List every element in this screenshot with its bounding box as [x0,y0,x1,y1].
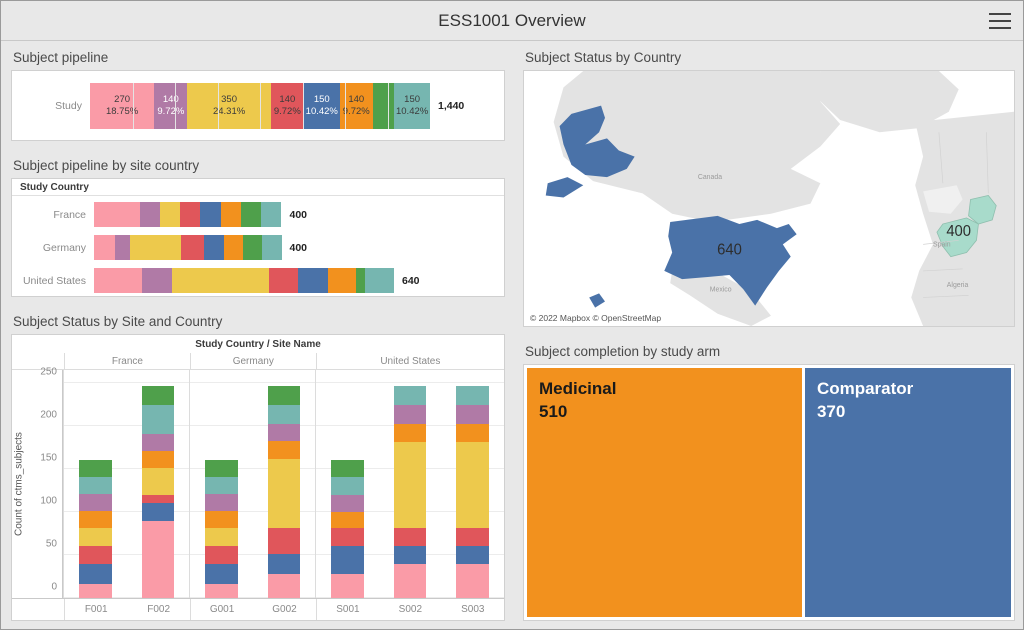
site-bar-segment[interactable] [268,424,301,441]
study-arm-treemap[interactable]: Medicinal510Comparator370 [523,364,1015,621]
gridline [218,83,219,129]
site-stacked-bar[interactable] [268,386,301,598]
treemap-tile-label: Medicinal [539,378,790,401]
country-xlabel-panel: G001G002 [190,599,316,620]
site-stacked-bar[interactable] [79,459,112,598]
country-header: Germany [190,353,316,369]
site-bar-segment[interactable] [79,511,112,528]
site-bar-segment[interactable] [205,546,238,565]
panel-subject-pipeline: Subject pipeline Study 27018.75%1409.72%… [1,41,513,149]
country-bar-segment[interactable] [94,268,142,293]
pipeline-stacked-bar[interactable]: 27018.75%1409.72%35024.31%1409.72%15010.… [90,83,430,129]
country-bar-segment[interactable] [298,268,328,293]
site-bar-segment[interactable] [394,528,427,545]
plot-area: Count of ctms_subjects 050100150200250 [12,370,504,598]
site-x-label: S003 [442,599,504,620]
country-header: United States [316,353,504,369]
country-row: France400 [12,198,504,231]
pipeline-segment-count: 140 [348,94,364,106]
bar-panels [62,370,504,598]
map-label-algeria: Algeria [947,282,969,289]
dashboard-header: ESS1001 Overview [1,1,1023,41]
gridline [388,83,389,129]
site-bar-segment[interactable] [79,584,112,598]
country-row-list: France400Germany400United States640 [12,196,504,297]
country-row: United States640 [12,264,504,297]
pipeline-segment-count: 270 [114,94,130,106]
x-axis-labels: F001F002G001G002S001S002S003 [12,598,504,620]
map-svg[interactable]: Canada Mexico Spain Algeria 640 400 [524,71,1014,326]
treemap-tile[interactable]: Comparator370 [805,368,1011,617]
panel-pipeline-by-site-country: Subject pipeline by site country Study C… [1,149,513,305]
site-bar-segment[interactable] [79,477,112,494]
site-bar-segment[interactable] [456,405,489,424]
site-bar-segment[interactable] [394,424,427,442]
country-bar-panel [189,370,315,598]
status-by-site-chart[interactable]: Study Country / Site Name FranceGermanyU… [11,334,505,621]
study-country-header: Study Country [12,179,504,196]
country-xlabel-panel: S001S002S003 [316,599,504,620]
site-bar-segment[interactable] [331,574,364,598]
map-value-united-states: 640 [717,241,742,258]
y-axis-tick: 150 [40,452,57,463]
country-bar-segment[interactable] [241,202,261,227]
pipeline-segment-count: 140 [163,94,179,106]
site-bar-segment[interactable] [142,495,175,503]
site-bar-segment[interactable] [142,434,175,451]
site-bar-segment[interactable] [79,494,112,511]
site-stacked-bar[interactable] [456,386,489,598]
country-xlabel-panel: F001F002 [64,599,190,620]
bar-slot [190,370,253,598]
country-bar-segment[interactable] [180,202,200,227]
site-bar-segment[interactable] [205,494,238,511]
dashboard-root: ESS1001 Overview Subject pipeline Study … [0,0,1024,630]
panel-title-completion-by-study-arm: Subject completion by study arm [523,341,1015,364]
pipeline-segment-percent: 10.42% [396,106,428,118]
country-bar-segment[interactable] [142,268,172,293]
pipeline-total-label: 1,440 [430,100,464,112]
map-label-spain: Spain [933,241,951,248]
treemap-tile-value: 510 [539,401,790,424]
site-bar-segment[interactable] [268,528,301,554]
site-bar-segment[interactable] [142,468,175,495]
country-row-label: France [12,209,94,221]
site-bar-segment[interactable] [205,528,238,545]
pipeline-segment-percent: 10.42% [306,106,338,118]
pipeline-segment-percent: 9.72% [274,106,301,118]
site-x-label: G002 [253,599,315,620]
site-bar-segment[interactable] [394,546,427,565]
site-bar-segment[interactable] [79,460,112,477]
bar-slot [64,370,127,598]
site-bar-segment[interactable] [394,564,427,598]
country-header: France [64,353,190,369]
map-label-canada: Canada [698,174,722,181]
country-bar-segment[interactable] [365,268,394,293]
country-bar-segment[interactable] [221,202,241,227]
bar-slot [127,370,190,598]
pipeline-segment[interactable]: 15010.42% [394,83,430,129]
site-bar-segment[interactable] [205,584,238,598]
country-bar-segment[interactable] [200,202,220,227]
site-bar-segment[interactable] [142,405,175,433]
site-bar-segment[interactable] [268,554,301,574]
site-bar-segment[interactable] [142,451,175,468]
y-axis-tick: 100 [40,495,57,506]
pipeline-segment[interactable]: 27018.75% [90,83,154,129]
site-bar-segment[interactable] [456,442,489,528]
site-bar-segment[interactable] [394,386,427,405]
bar-slot [379,370,442,598]
panel-title-subject-pipeline: Subject pipeline [11,47,505,70]
site-bar-segment[interactable] [205,511,238,528]
pipeline-segment-percent: 9.72% [343,106,370,118]
country-bar-segment[interactable] [94,202,140,227]
country-stacked-bar[interactable] [94,268,394,293]
pipeline-row-label: Study [12,100,90,112]
country-bar-segment[interactable] [262,235,282,260]
site-bar-segment[interactable] [205,564,238,584]
country-bar-segment[interactable] [160,202,180,227]
site-bar-segment[interactable] [79,546,112,565]
site-bar-segment[interactable] [205,477,238,494]
site-bar-segment[interactable] [79,564,112,584]
country-bar-segment[interactable] [204,235,225,260]
pipeline-segment-count: 150 [314,94,330,106]
country-bar-panel [315,370,504,598]
y-axis-tick: 250 [40,366,57,377]
country-bar-segment[interactable] [224,235,243,260]
site-bar-segment[interactable] [394,442,427,528]
site-bar-segment[interactable] [331,495,364,512]
country-bar-segment[interactable] [181,235,204,260]
gridline [260,83,261,129]
country-header-row: FranceGermanyUnited States [12,353,504,370]
country-bar-segment[interactable] [130,235,182,260]
hamburger-menu-icon[interactable] [989,13,1011,29]
site-bar-segment[interactable] [331,528,364,545]
pipeline-segment-count: 350 [221,94,237,106]
y-axis-tick: 0 [51,582,57,593]
panel-status-by-site-and-country: Subject Status by Site and Country Study… [1,305,513,629]
site-x-label: F002 [127,599,189,620]
site-x-label: S001 [317,599,379,620]
y-axis-tick: 200 [40,409,57,420]
gridline [133,83,134,129]
country-bar-panel [63,370,189,598]
country-bar-segment[interactable] [140,202,160,227]
country-row: Germany400 [12,231,504,264]
site-bar-segment[interactable] [142,503,175,521]
site-bar-segment[interactable] [268,459,301,529]
site-bar-segment[interactable] [456,424,489,442]
site-bar-segment[interactable] [331,546,364,574]
site-bar-segment[interactable] [331,460,364,477]
site-x-label: G001 [191,599,253,620]
map-label-mexico: Mexico [710,286,732,293]
country-total-label: 400 [282,209,308,221]
site-bar-segment[interactable] [456,546,489,565]
site-bar-segment[interactable] [331,512,364,528]
map-value-france: 400 [946,223,971,240]
bar-slot [316,370,379,598]
country-bar-segment[interactable] [261,202,281,227]
pipeline-segment[interactable]: 15010.42% [304,83,340,129]
country-total-label: 400 [282,242,308,254]
site-x-label: F001 [65,599,127,620]
site-stacked-bar[interactable] [205,459,238,598]
site-stacked-bar[interactable] [331,459,364,598]
site-x-label: S002 [379,599,441,620]
panel-title-status-by-country: Subject Status by Country [523,47,1015,70]
hamburger-bar [989,27,1011,29]
y-axis-tick: 50 [46,538,57,549]
map-region-germany[interactable] [969,195,997,224]
site-bar-segment[interactable] [268,386,301,405]
site-bar-segment[interactable] [456,564,489,598]
pipeline-segment-count: 150 [404,94,420,106]
panel-status-by-country: Subject Status by Country [513,41,1023,335]
pipeline-segment[interactable]: 35024.31% [187,83,270,129]
hamburger-bar [989,13,1011,15]
site-bar-segment[interactable] [268,441,301,458]
panel-title-status-by-site-and-country: Subject Status by Site and Country [11,311,505,334]
site-stacked-bar[interactable] [142,386,175,598]
country-bar-segment[interactable] [172,268,268,293]
country-bar-segment[interactable] [115,235,130,260]
axis-title-study-country-site-name: Study Country / Site Name [12,335,504,353]
country-bar-segment[interactable] [328,268,356,293]
site-bar-segment[interactable] [268,405,301,424]
treemap-tile-value: 370 [817,401,999,424]
axis-gutter [12,599,64,620]
country-choropleth-map[interactable]: Canada Mexico Spain Algeria 640 400 © 20… [523,70,1015,327]
subject-pipeline-chart[interactable]: Study 27018.75%1409.72%35024.31%1409.72%… [11,70,505,141]
country-bar-segment[interactable] [269,268,298,293]
pipeline-segment[interactable]: 1409.72% [271,83,304,129]
gridline [345,83,346,129]
pipeline-by-country-chart[interactable]: Study Country France400Germany400United … [11,178,505,297]
country-bar-segment[interactable] [356,268,365,293]
gridline [175,83,176,129]
y-axis-label: Count of ctms_subjects [12,370,26,598]
treemap-tile-label: Comparator [817,378,999,401]
pipeline-segment-count: 140 [279,94,295,106]
country-bar-segment[interactable] [243,235,262,260]
site-bar-segment[interactable] [268,574,301,598]
dashboard-body: Subject pipeline Study 27018.75%1409.72%… [1,41,1023,629]
site-bar-segment[interactable] [79,528,112,545]
pipeline-segment[interactable]: 1409.72% [154,83,187,129]
gridline [303,83,304,129]
page-title: ESS1001 Overview [438,11,585,31]
country-row-label: Germany [12,242,94,254]
left-column: Subject pipeline Study 27018.75%1409.72%… [1,41,513,629]
country-row-label: United States [12,275,94,287]
site-bar-segment[interactable] [456,528,489,545]
country-total-label: 640 [394,275,420,287]
country-bar-segment[interactable] [94,235,115,260]
country-stacked-bar[interactable] [94,235,282,260]
country-stacked-bar[interactable] [94,202,282,227]
pipeline-segment[interactable] [373,83,394,129]
pipeline-segment-percent: 9.72% [157,106,184,118]
bar-slot [253,370,316,598]
bar-slot [441,370,504,598]
site-bar-segment[interactable] [142,386,175,405]
right-column: Subject Status by Country [513,41,1023,629]
site-bar-segment[interactable] [205,460,238,477]
site-bar-segment[interactable] [331,477,364,495]
site-bar-segment[interactable] [394,405,427,424]
y-axis-ticks: 050100150200250 [26,370,62,598]
site-bar-segment[interactable] [142,521,175,598]
treemap-tile[interactable]: Medicinal510 [527,368,802,617]
hamburger-bar [989,20,1011,22]
panel-completion-by-study-arm: Subject completion by study arm Medicina… [513,335,1023,629]
panel-title-pipeline-by-site-country: Subject pipeline by site country [11,155,505,178]
map-attribution: © 2022 Mapbox © OpenStreetMap [528,313,663,323]
site-stacked-bar[interactable] [394,386,427,598]
site-bar-segment[interactable] [456,386,489,405]
